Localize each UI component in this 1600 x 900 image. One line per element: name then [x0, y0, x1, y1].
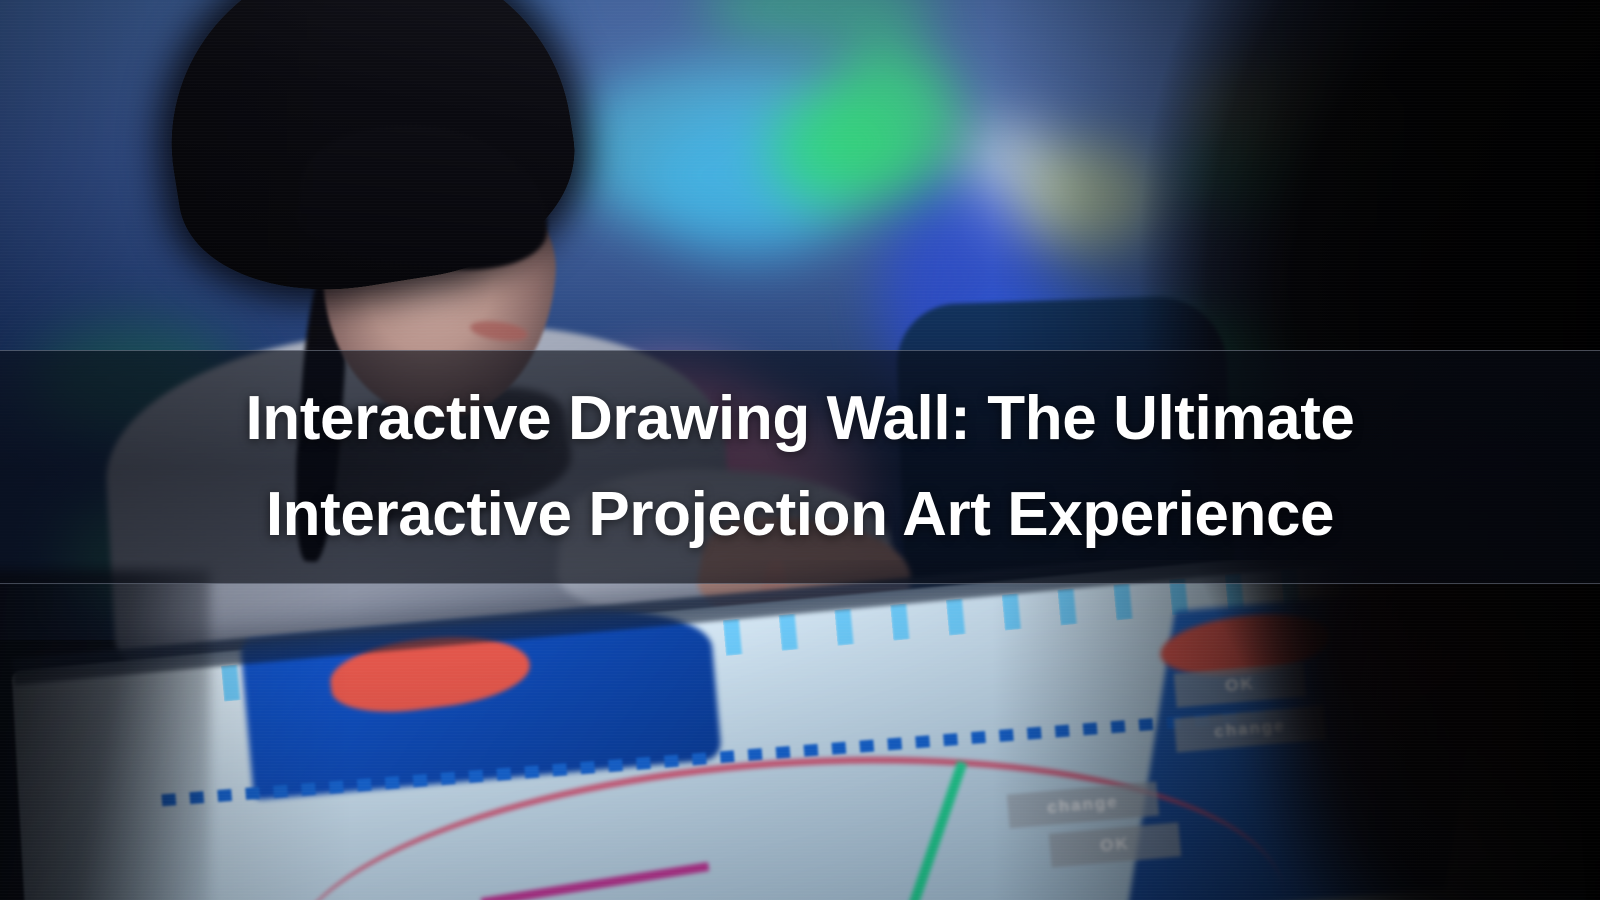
- table-left-shadow: [0, 570, 210, 900]
- hero-banner: OK change change OK Interactive Drawing …: [0, 0, 1600, 900]
- page-title-line-2: Interactive Projection Art Experience: [266, 467, 1334, 563]
- title-overlay-band: Interactive Drawing Wall: The Ultimate I…: [0, 350, 1600, 584]
- page-title-line-1: Interactive Drawing Wall: The Ultimate: [245, 371, 1354, 467]
